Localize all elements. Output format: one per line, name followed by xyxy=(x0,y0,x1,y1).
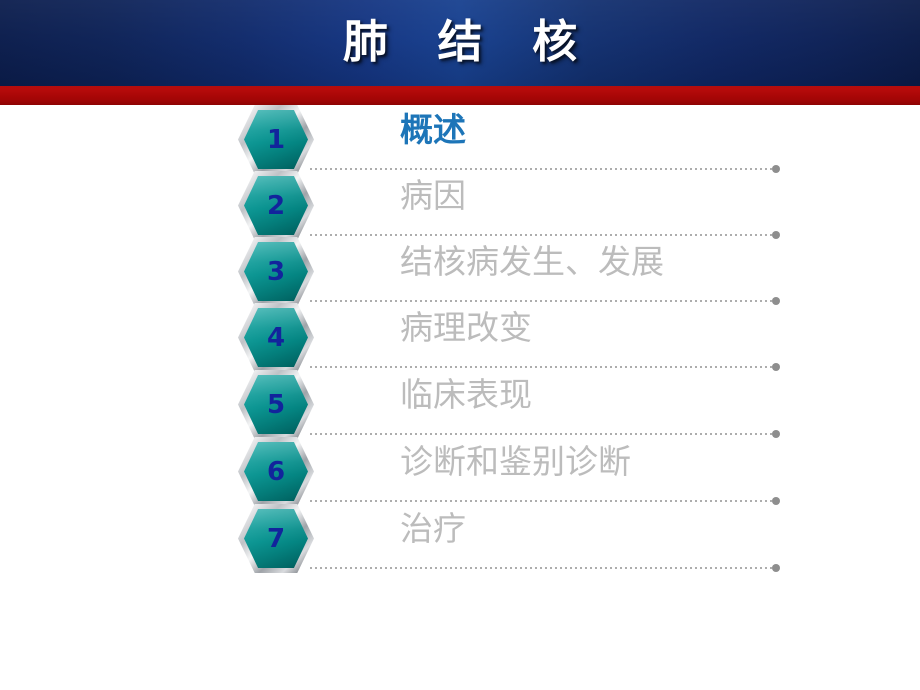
slide-root: 肺 结 核 1 概述 2 病因 xyxy=(0,0,920,690)
agenda-item-number: 3 xyxy=(238,237,314,306)
agenda-connector-dots xyxy=(310,567,772,569)
agenda-item-1[interactable]: 1 概述 xyxy=(0,105,920,172)
agenda-item-label: 病因 xyxy=(400,173,900,219)
agenda-item-label: 治疗 xyxy=(400,506,900,552)
agenda-item-5[interactable]: 5 临床表现 xyxy=(0,370,920,437)
hexagon-badge-6[interactable]: 6 xyxy=(238,437,314,506)
hexagon-badge-3[interactable]: 3 xyxy=(238,237,314,306)
hexagon-badge-7[interactable]: 7 xyxy=(238,504,314,573)
hexagon-badge-4[interactable]: 4 xyxy=(238,303,314,372)
agenda-connector-dots xyxy=(310,300,772,302)
agenda-connector-dots xyxy=(310,433,772,435)
agenda-connector-dots xyxy=(310,366,772,368)
agenda-connector-dots xyxy=(310,500,772,502)
agenda-item-2[interactable]: 2 病因 xyxy=(0,171,920,238)
agenda-item-number: 6 xyxy=(238,437,314,506)
agenda-item-number: 4 xyxy=(238,303,314,372)
agenda-connector-dots xyxy=(310,234,772,236)
agenda-item-label: 诊断和鉴别诊断 xyxy=(400,439,900,485)
agenda-item-7[interactable]: 7 治疗 xyxy=(0,504,920,571)
agenda-item-number: 7 xyxy=(238,504,314,573)
agenda-item-4[interactable]: 4 病理改变 xyxy=(0,303,920,370)
hexagon-badge-2[interactable]: 2 xyxy=(238,171,314,240)
hexagon-badge-1[interactable]: 1 xyxy=(238,105,314,174)
agenda-connector-endpoint-dot xyxy=(772,564,780,572)
agenda-item-label: 病理改变 xyxy=(400,305,900,351)
agenda-item-label: 临床表现 xyxy=(400,372,900,418)
agenda-item-label: 结核病发生、发展 xyxy=(400,239,900,285)
agenda-list: 1 概述 2 病因 3 结核病发生 xyxy=(0,105,920,585)
agenda-item-label: 概述 xyxy=(400,107,900,153)
red-divider-bar xyxy=(0,86,920,105)
agenda-item-6[interactable]: 6 诊断和鉴别诊断 xyxy=(0,437,920,504)
agenda-item-number: 2 xyxy=(238,171,314,240)
agenda-connector-dots xyxy=(310,168,772,170)
agenda-item-number: 1 xyxy=(238,105,314,174)
hexagon-badge-5[interactable]: 5 xyxy=(238,370,314,439)
slide-header-banner: 肺 结 核 xyxy=(0,0,920,86)
page-title: 肺 结 核 xyxy=(0,13,920,70)
agenda-item-3[interactable]: 3 结核病发生、发展 xyxy=(0,237,920,304)
agenda-item-number: 5 xyxy=(238,370,314,439)
